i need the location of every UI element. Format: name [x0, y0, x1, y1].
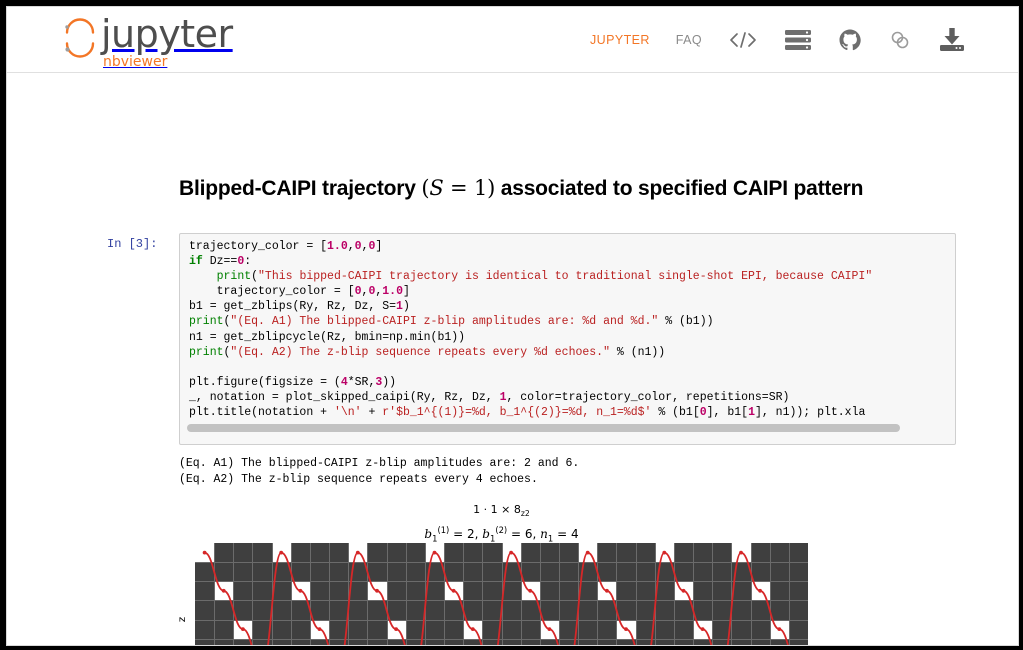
- trajectory-sample-point: [758, 589, 762, 593]
- trajectory-sample-point: [452, 589, 456, 593]
- code-line: [189, 360, 872, 375]
- trajectory-sample-point: [299, 589, 303, 593]
- trajectory-sample-point: [222, 589, 226, 593]
- title-text-before: Blipped-CAIPI trajectory: [179, 177, 421, 200]
- b2-symbol: b: [482, 527, 490, 541]
- cell-prompt: In [3]:: [107, 237, 169, 251]
- code-icon[interactable]: [728, 30, 758, 50]
- b2-value: 6: [525, 527, 533, 541]
- trajectory-sample-point: [203, 551, 207, 555]
- code-line: if Dz==0:: [189, 254, 872, 269]
- b2-superscript: (2): [495, 525, 507, 535]
- code-editor[interactable]: trajectory_color = [1.0,0,0]if Dz==0: pr…: [179, 233, 956, 445]
- figure-title-line1-sub: z2: [521, 509, 530, 518]
- horizontal-scrollbar[interactable]: [187, 424, 900, 432]
- trajectory-sample-point: [548, 627, 552, 631]
- trajectory-sample-point: [777, 627, 781, 631]
- notebook-body: Blipped-CAIPI trajectory (S = 1) associa…: [7, 73, 1018, 645]
- code-line: trajectory_color = [0,0,1.0]: [189, 284, 872, 299]
- trajectory-sample-point: [605, 589, 609, 593]
- trajectory-sample-point: [241, 627, 245, 631]
- brand-text: jupyter nbviewer: [101, 15, 233, 70]
- trajectory-sample-point: [375, 589, 379, 593]
- title-math-close: ): [487, 176, 495, 200]
- n1-symbol: n: [540, 527, 548, 541]
- code-line: n1 = get_zblipcycle(Rz, bmin=np.min(b1)): [189, 330, 872, 345]
- trajectory-sample-point: [624, 627, 628, 631]
- cell-stdout-output: (Eq. A1) The blipped-CAIPI z-blip amplit…: [179, 456, 579, 487]
- navbar-links: JUPYTER FAQ: [590, 7, 966, 72]
- code-source: trajectory_color = [1.0,0,0]if Dz==0: pr…: [189, 239, 872, 420]
- nav-link-jupyter[interactable]: JUPYTER: [590, 33, 650, 47]
- y-axis-label-text: z: [178, 617, 189, 622]
- trajectory-sample-point: [662, 551, 666, 555]
- title-math-val: 1: [474, 176, 487, 200]
- code-line: _, notation = plot_skipped_caipi(Ry, Rz,…: [189, 390, 872, 405]
- brand-subname: nbviewer: [103, 54, 233, 70]
- code-line: trajectory_color = [1.0,0,0]: [189, 239, 872, 254]
- jupyter-logo-icon: [63, 18, 97, 58]
- code-line: print("This bipped-CAIPI trajectory is i…: [189, 269, 872, 284]
- stdout-line: (Eq. A2) The z-blip sequence repeats eve…: [179, 472, 579, 488]
- site-navbar: jupyter nbviewer JUPYTER FAQ: [7, 7, 1018, 73]
- title-math-eq: =: [444, 176, 474, 200]
- trajectory-path: [195, 543, 808, 646]
- figure-title-line1-main: 1 · 1 × 8: [473, 503, 521, 516]
- link-icon[interactable]: [888, 28, 912, 52]
- code-line: print("(Eq. A1) The blipped-CAIPI z-blip…: [189, 314, 872, 329]
- server-icon[interactable]: [784, 29, 812, 51]
- trajectory-sample-point: [509, 551, 513, 555]
- trajectory-sample-point: [394, 627, 398, 631]
- nav-link-faq[interactable]: FAQ: [676, 33, 702, 47]
- trajectory-sample-point: [586, 551, 590, 555]
- code-line: plt.figure(figsize = (4*SR,3)): [189, 375, 872, 390]
- b1-symbol: b: [424, 527, 432, 541]
- y-axis-label: z: [173, 543, 193, 646]
- browser-page: jupyter nbviewer JUPYTER FAQ: [6, 6, 1019, 646]
- figure-output: 1 · 1 × 8z2 b1(1) = 2, b1(2) = 6, n1 = 4…: [195, 501, 808, 646]
- trajectory-sample-point: [318, 627, 322, 631]
- github-icon[interactable]: [838, 28, 862, 52]
- trajectory-sample-point: [433, 551, 437, 555]
- nbviewer-brand-link[interactable]: jupyter nbviewer: [63, 15, 233, 70]
- code-line: b1 = get_zblips(Ry, Rz, Dz, S=1): [189, 299, 872, 314]
- n1-value: 4: [571, 527, 579, 541]
- figure-title: 1 · 1 × 8z2 b1(1) = 2, b1(2) = 6, n1 = 4: [195, 501, 808, 548]
- code-line: plt.title(notation + '\n' + r'$b_1^{(1)}…: [189, 405, 872, 420]
- trajectory-sample-point: [739, 551, 743, 555]
- title-math-var: S: [429, 176, 443, 200]
- plot-axes: [195, 543, 808, 646]
- trajectory-sample-point: [682, 589, 686, 593]
- title-text-after: associated to specified CAIPI pattern: [495, 177, 863, 200]
- figure-title-line1: 1 · 1 × 8z2: [195, 501, 808, 522]
- trajectory-sample-point: [528, 589, 532, 593]
- trajectory-sample-point: [356, 551, 360, 555]
- stdout-line: (Eq. A1) The blipped-CAIPI z-blip amplit…: [179, 456, 579, 472]
- brand-name: jupyter: [101, 15, 233, 53]
- trajectory-sample-point: [471, 627, 475, 631]
- trajectory-sample-point: [701, 627, 705, 631]
- code-line: print("(Eq. A2) The z-blip sequence repe…: [189, 345, 872, 360]
- trajectory-line: [205, 553, 799, 646]
- b1-value: 2: [467, 527, 475, 541]
- page-title: Blipped-CAIPI trajectory (S = 1) associa…: [179, 175, 879, 202]
- download-icon[interactable]: [938, 27, 966, 53]
- trajectory-sample-point: [279, 551, 283, 555]
- b1-superscript: (1): [437, 525, 449, 535]
